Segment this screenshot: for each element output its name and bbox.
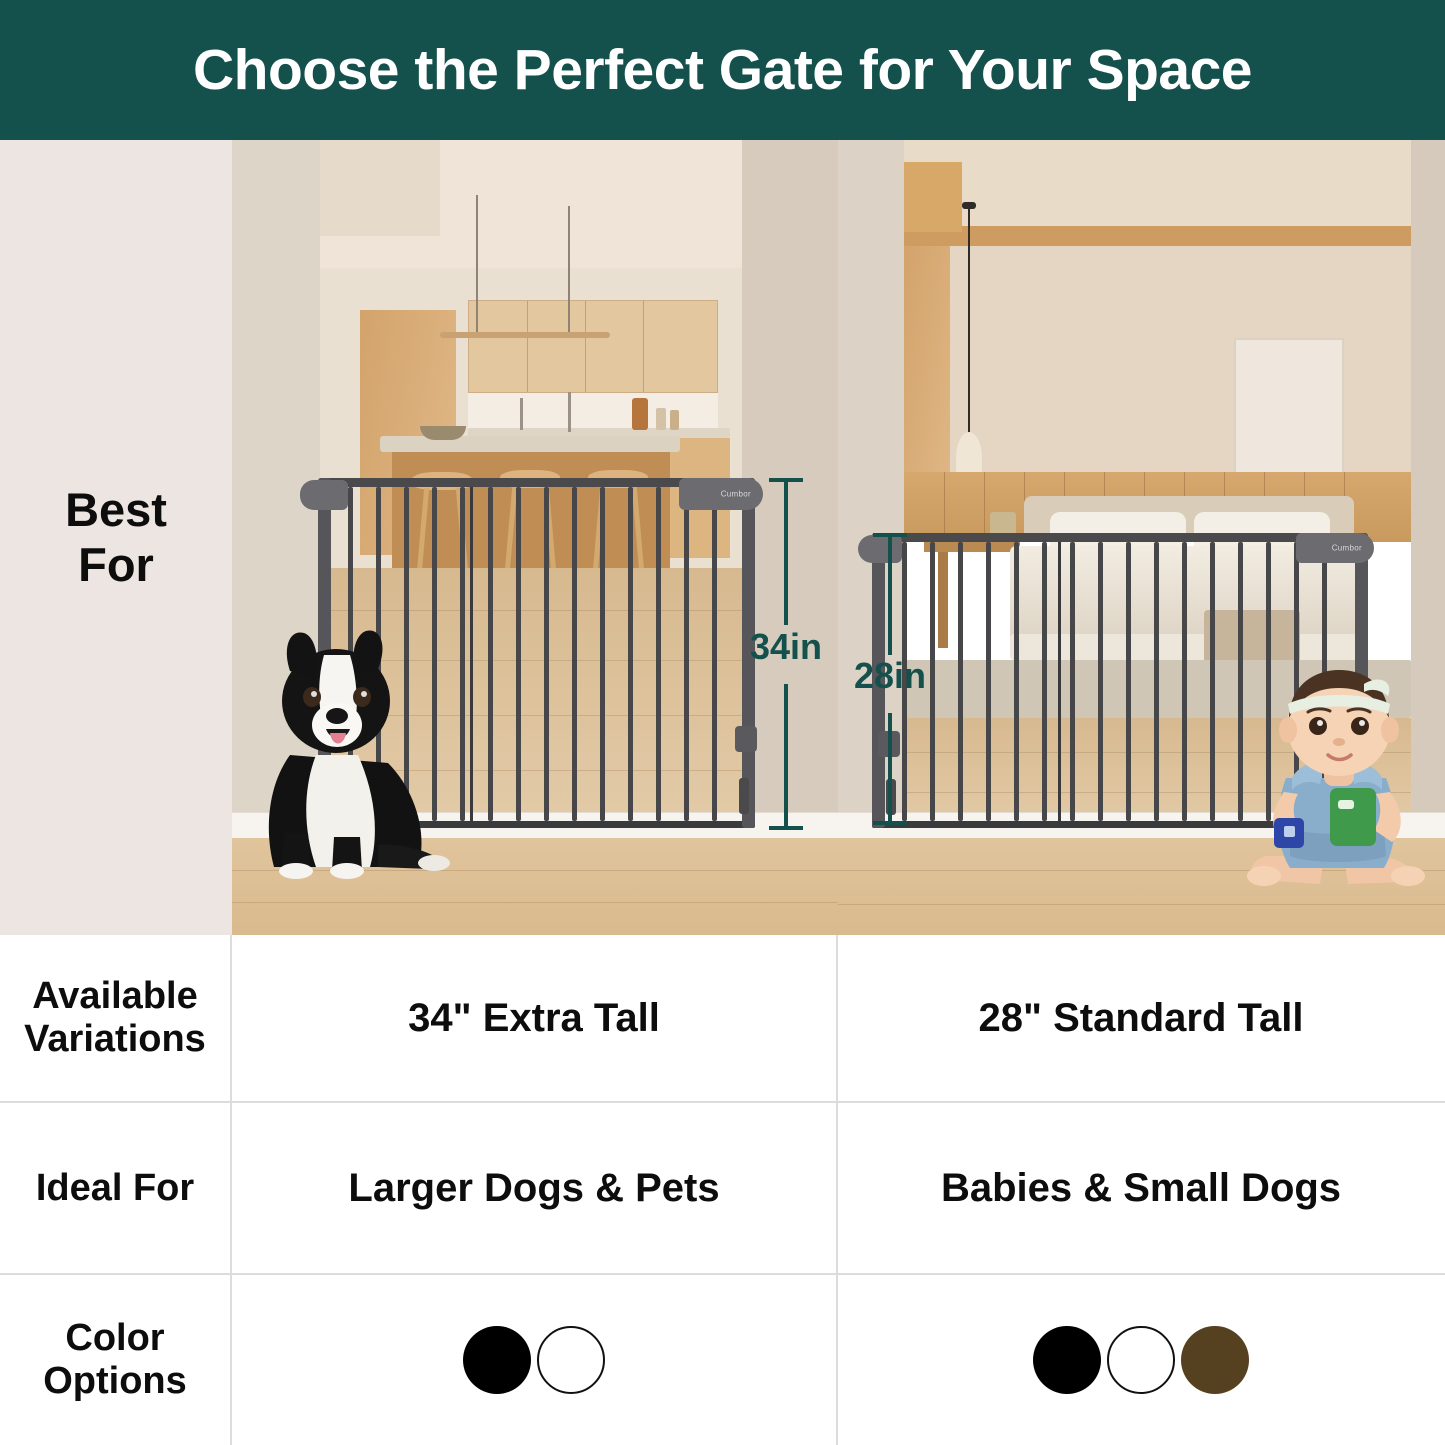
cell-colors-left: [232, 1275, 838, 1445]
right-pendant-cord: [968, 208, 970, 436]
value-variations-left: 34" Extra Tall: [408, 996, 660, 1041]
comparison-spec-table: Available Variations 34" Extra Tall 28" …: [0, 935, 1445, 1445]
row-label-line1: Available: [24, 975, 206, 1018]
swatch-black-right[interactable]: [1033, 1326, 1101, 1394]
header-banner: Choose the Perfect Gate for Your Space: [0, 0, 1445, 140]
right-dimension-28in: 28in: [844, 533, 936, 828]
row-label-line1: Ideal For: [36, 1167, 194, 1210]
swatch-white-right[interactable]: [1107, 1326, 1175, 1394]
row-label-line1: Color: [43, 1317, 187, 1360]
right-gate-top-rail: [872, 533, 1368, 542]
swatch-black-left[interactable]: [463, 1326, 531, 1394]
hero-row-label-cell: Best For: [0, 140, 232, 935]
hero-row-label-line2: For: [65, 538, 167, 592]
left-jar-2: [670, 410, 679, 430]
left-linear-pendant: [440, 332, 610, 338]
right-scene-bedroom: Cumbor: [838, 140, 1445, 935]
row-label-line2: Options: [43, 1360, 187, 1403]
cell-ideal-right: Babies & Small Dogs: [838, 1103, 1444, 1273]
row-label-color-options: Color Options: [0, 1275, 232, 1445]
left-pendant-cord-2: [568, 206, 570, 336]
row-label-available-variations: Available Variations: [0, 935, 232, 1101]
row-label-line2: Variations: [24, 1018, 206, 1061]
page-title: Choose the Perfect Gate for Your Space: [193, 37, 1252, 103]
swatch-brown-right[interactable]: [1181, 1326, 1249, 1394]
right-framed-art: [1234, 338, 1344, 478]
value-variations-right: 28" Standard Tall: [979, 996, 1304, 1041]
cell-ideal-left: Larger Dogs & Pets: [232, 1103, 838, 1273]
left-dimension-label: 34in: [750, 626, 822, 668]
right-crown-trim: [904, 226, 1411, 246]
left-dimension-34in: 34in: [740, 478, 832, 830]
left-fruit-bowl: [420, 426, 466, 440]
left-pendant-cord-1: [476, 195, 478, 335]
right-gate-latch-handle[interactable]: Cumbor: [1296, 533, 1374, 563]
swatch-white-left[interactable]: [537, 1326, 605, 1394]
cell-colors-right: [838, 1275, 1444, 1445]
left-cutting-board: [632, 398, 648, 430]
hero-row-label-line1: Best: [65, 483, 167, 537]
left-upper-cabinets: [468, 300, 718, 393]
row-label-ideal-for: Ideal For: [0, 1103, 232, 1273]
value-ideal-left: Larger Dogs & Pets: [348, 1166, 719, 1211]
left-gate-door-seam: [470, 487, 473, 821]
hero-photo-row: Best For: [0, 140, 1445, 935]
swatch-group-left: [463, 1326, 605, 1394]
left-jar-1: [656, 408, 666, 430]
table-row-color-options: Color Options: [0, 1275, 1445, 1445]
hero-row-label: Best For: [65, 483, 167, 591]
value-ideal-right: Babies & Small Dogs: [941, 1166, 1341, 1211]
border-collie-dog: [238, 605, 468, 880]
cell-variations-right: 28" Standard Tall: [838, 935, 1444, 1101]
baby-figure: [1238, 660, 1443, 910]
gate-comparison-infographic: Choose the Perfect Gate for Your Space B…: [0, 0, 1445, 1445]
left-backsplash: [468, 393, 718, 433]
left-gate-hinge-cap[interactable]: [300, 480, 348, 510]
left-soffit: [320, 140, 440, 236]
right-gate-brand-mark: Cumbor: [1332, 544, 1362, 553]
cell-variations-left: 34" Extra Tall: [232, 935, 838, 1101]
left-faucet-1: [520, 398, 523, 430]
left-island-top: [380, 436, 680, 452]
table-row-ideal-for: Ideal For Larger Dogs & Pets Babies & Sm…: [0, 1103, 1445, 1275]
right-gate-door-seam: [1058, 542, 1061, 821]
table-row-available-variations: Available Variations 34" Extra Tall 28" …: [0, 935, 1445, 1103]
right-dimension-label: 28in: [854, 655, 926, 697]
left-faucet-2: [568, 392, 571, 432]
left-scene-kitchen: Cumbor: [232, 140, 838, 935]
right-trim-return: [904, 162, 962, 232]
swatch-group-right: [1033, 1326, 1249, 1394]
